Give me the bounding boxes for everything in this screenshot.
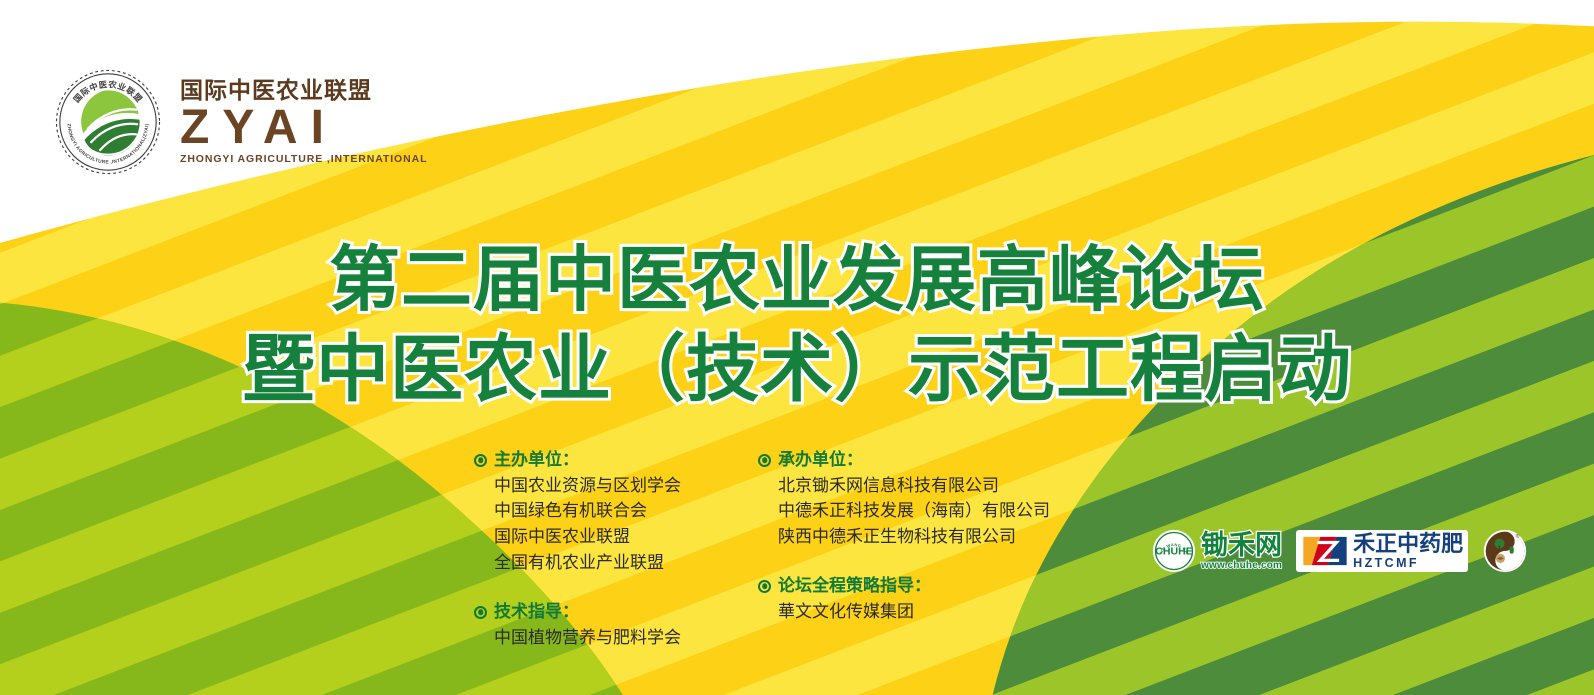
organizer-item: 国际中医农业联盟 [474,524,724,550]
organizer-group-heading: 论坛全程策略指导： [758,574,1038,599]
chuhe-seal-icon: CHUHE WANG GREEN CHUHE [1152,529,1196,573]
hztcmf-mark-icon [1301,535,1349,567]
organizer-item: 中国植物营养与肥料学会 [474,625,724,651]
sponsor-logo-tcm-fertilizer: ® 中药肥 [1482,528,1528,574]
registered-mark: ® [1516,533,1520,540]
chuhe-mark-text: CHUHE [1155,546,1193,558]
organizer-column-right: 承办单位： 北京锄禾网信息科技有限公司 中德禾正科技发展（海南）有限公司 陕西中… [758,448,1038,656]
organizer-group-strategy-advisor: 论坛全程策略指导： 華文文化传媒集团 [758,574,1038,624]
chuhe-wordmark: 锄禾网 www.chuhe.com [1201,532,1282,571]
hztcmf-name-cn: 禾正中药肥 [1353,533,1463,555]
organizer-item: 全国有机农业产业联盟 [474,550,724,576]
hztcmf-name-en: HZTCMF [1353,557,1463,570]
organizer-heading-text: 承办单位： [778,448,863,473]
conference-banner: 国际中医农业联盟 ZHONGYI AGRICULTURE ,INTERNATIO… [0,0,1594,695]
hztcmf-wordmark: 禾正中药肥 HZTCMF [1353,533,1463,570]
organizer-column-left: 主办单位： 中国农业资源与区划学会 中国绿色有机联合会 国际中医农业联盟 全国有… [474,448,724,656]
organizer-group-heading: 技术指导： [474,600,724,625]
tree-root-emblem-icon: ® [1482,528,1528,574]
bullet-icon [758,580,771,593]
organizer-group-coorganizer: 承办单位： 北京锄禾网信息科技有限公司 中德禾正科技发展（海南）有限公司 陕西中… [758,448,1038,550]
organizer-item: 中国绿色有机联合会 [474,498,724,524]
organizer-item: 華文文化传媒集团 [758,599,1038,625]
organizer-group-host: 主办单位： 中国农业资源与区划学会 中国绿色有机联合会 国际中医农业联盟 全国有… [474,448,724,576]
chuhe-name-cn: 锄禾网 [1201,532,1282,559]
zyai-name-cn: 国际中医农业联盟 [180,79,427,102]
organizer-group-tech-advisor: 技术指导： 中国植物营养与肥料学会 [474,600,724,650]
zyai-acronym: ZYAI [180,104,427,151]
organizer-heading-text: 技术指导： [494,600,579,625]
zyai-logo-lockup: 国际中医农业联盟 ZHONGYI AGRICULTURE ,INTERNATIO… [52,66,427,178]
bullet-icon [474,454,487,467]
organizer-group-heading: 承办单位： [758,448,1038,473]
sponsor-logo-row: CHUHE WANG GREEN CHUHE 锄禾网 www.chuhe.com… [1152,528,1528,574]
sponsor-logo-hztcmf: 禾正中药肥 HZTCMF [1296,530,1468,573]
sponsor-logo-chuhe: CHUHE WANG GREEN CHUHE 锄禾网 www.chuhe.com [1152,529,1282,573]
zyai-seal-icon: 国际中医农业联盟 ZHONGYI AGRICULTURE ,INTERNATIO… [52,66,164,178]
organizer-item: 中德禾正科技发展（海南）有限公司 [758,498,1038,524]
organizer-group-heading: 主办单位： [474,448,724,473]
organizer-item: 北京锄禾网信息科技有限公司 [758,473,1038,499]
organizer-item: 陕西中德禾正生物科技有限公司 [758,524,1038,550]
chuhe-url: www.chuhe.com [1201,561,1282,571]
organizer-heading-text: 主办单位： [494,448,579,473]
organizer-info: 主办单位： 中国农业资源与区划学会 中国绿色有机联合会 国际中医农业联盟 全国有… [474,448,1038,656]
organizer-heading-text: 论坛全程策略指导： [778,574,931,599]
bullet-icon [474,606,487,619]
zyai-name-en: ZHONGYI AGRICULTURE ,INTERNATIONAL [180,154,427,165]
organizer-item: 中国农业资源与区划学会 [474,473,724,499]
bullet-icon [758,454,771,467]
zyai-wordmark: 国际中医农业联盟 ZYAI ZHONGYI AGRICULTURE ,INTER… [180,79,427,165]
